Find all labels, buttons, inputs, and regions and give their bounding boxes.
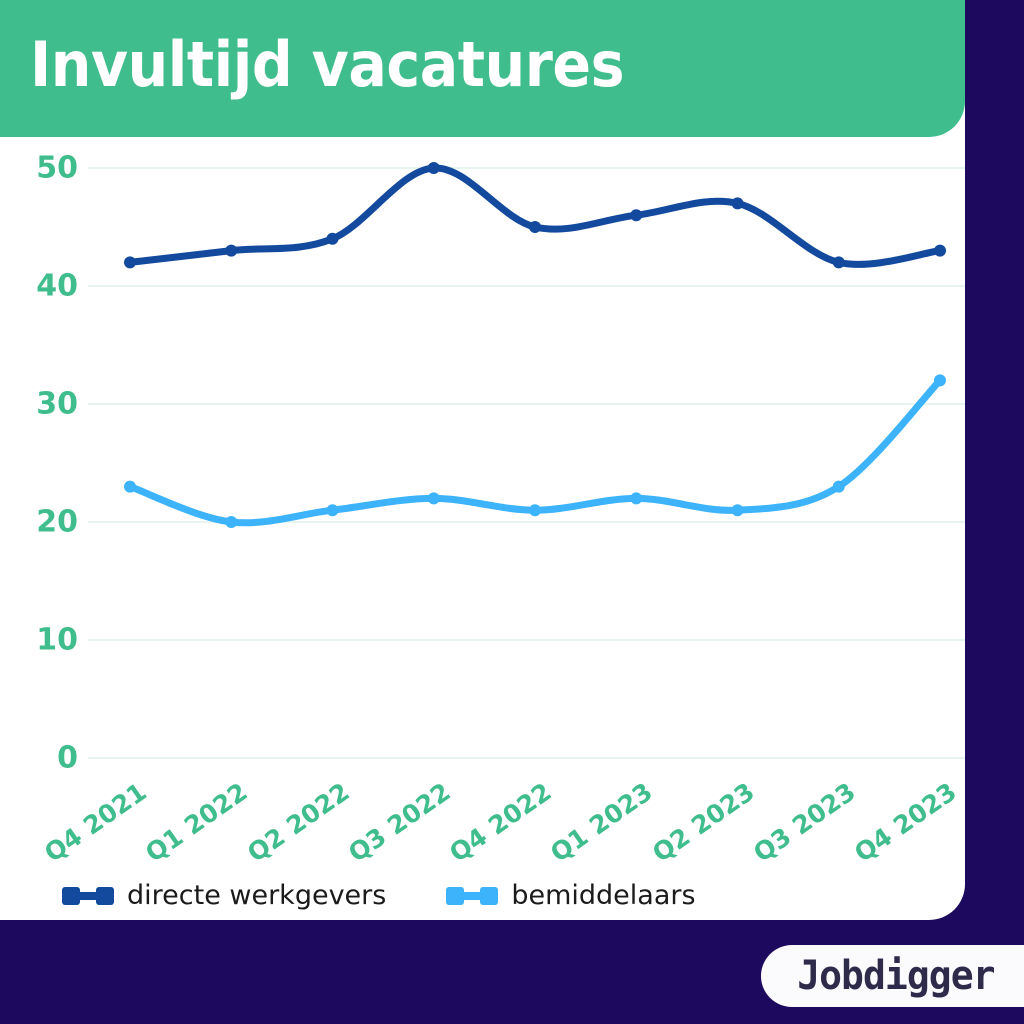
page-background: Invultijd vacatures 01020304050 Q4 2021Q… [0, 0, 1024, 1024]
brand-logo-text: Jobdigger [797, 953, 994, 999]
chart-plot-area: 01020304050 Q4 2021Q1 2022Q2 2022Q3 2022… [0, 137, 965, 920]
legend-item-2[interactable]: bemiddelaars [446, 880, 695, 911]
legend-marker-icon [446, 886, 498, 906]
legend-label: bemiddelaars [511, 880, 695, 911]
header-banner: Invultijd vacatures [0, 0, 965, 137]
chart-card: Invultijd vacatures 01020304050 Q4 2021Q… [0, 0, 965, 920]
legend-marker-icon [62, 886, 114, 906]
legend-label: directe werkgevers [127, 880, 386, 911]
page-title: Invultijd vacatures [30, 28, 624, 101]
legend-item-1[interactable]: directe werkgevers [62, 880, 386, 911]
x-axis-tick-labels: Q4 2021Q1 2022Q2 2022Q3 2022Q4 2022Q1 20… [0, 137, 965, 920]
chart-legend: directe werkgeversbemiddelaars [62, 880, 696, 911]
brand-logo: Jobdigger [761, 945, 1024, 1007]
